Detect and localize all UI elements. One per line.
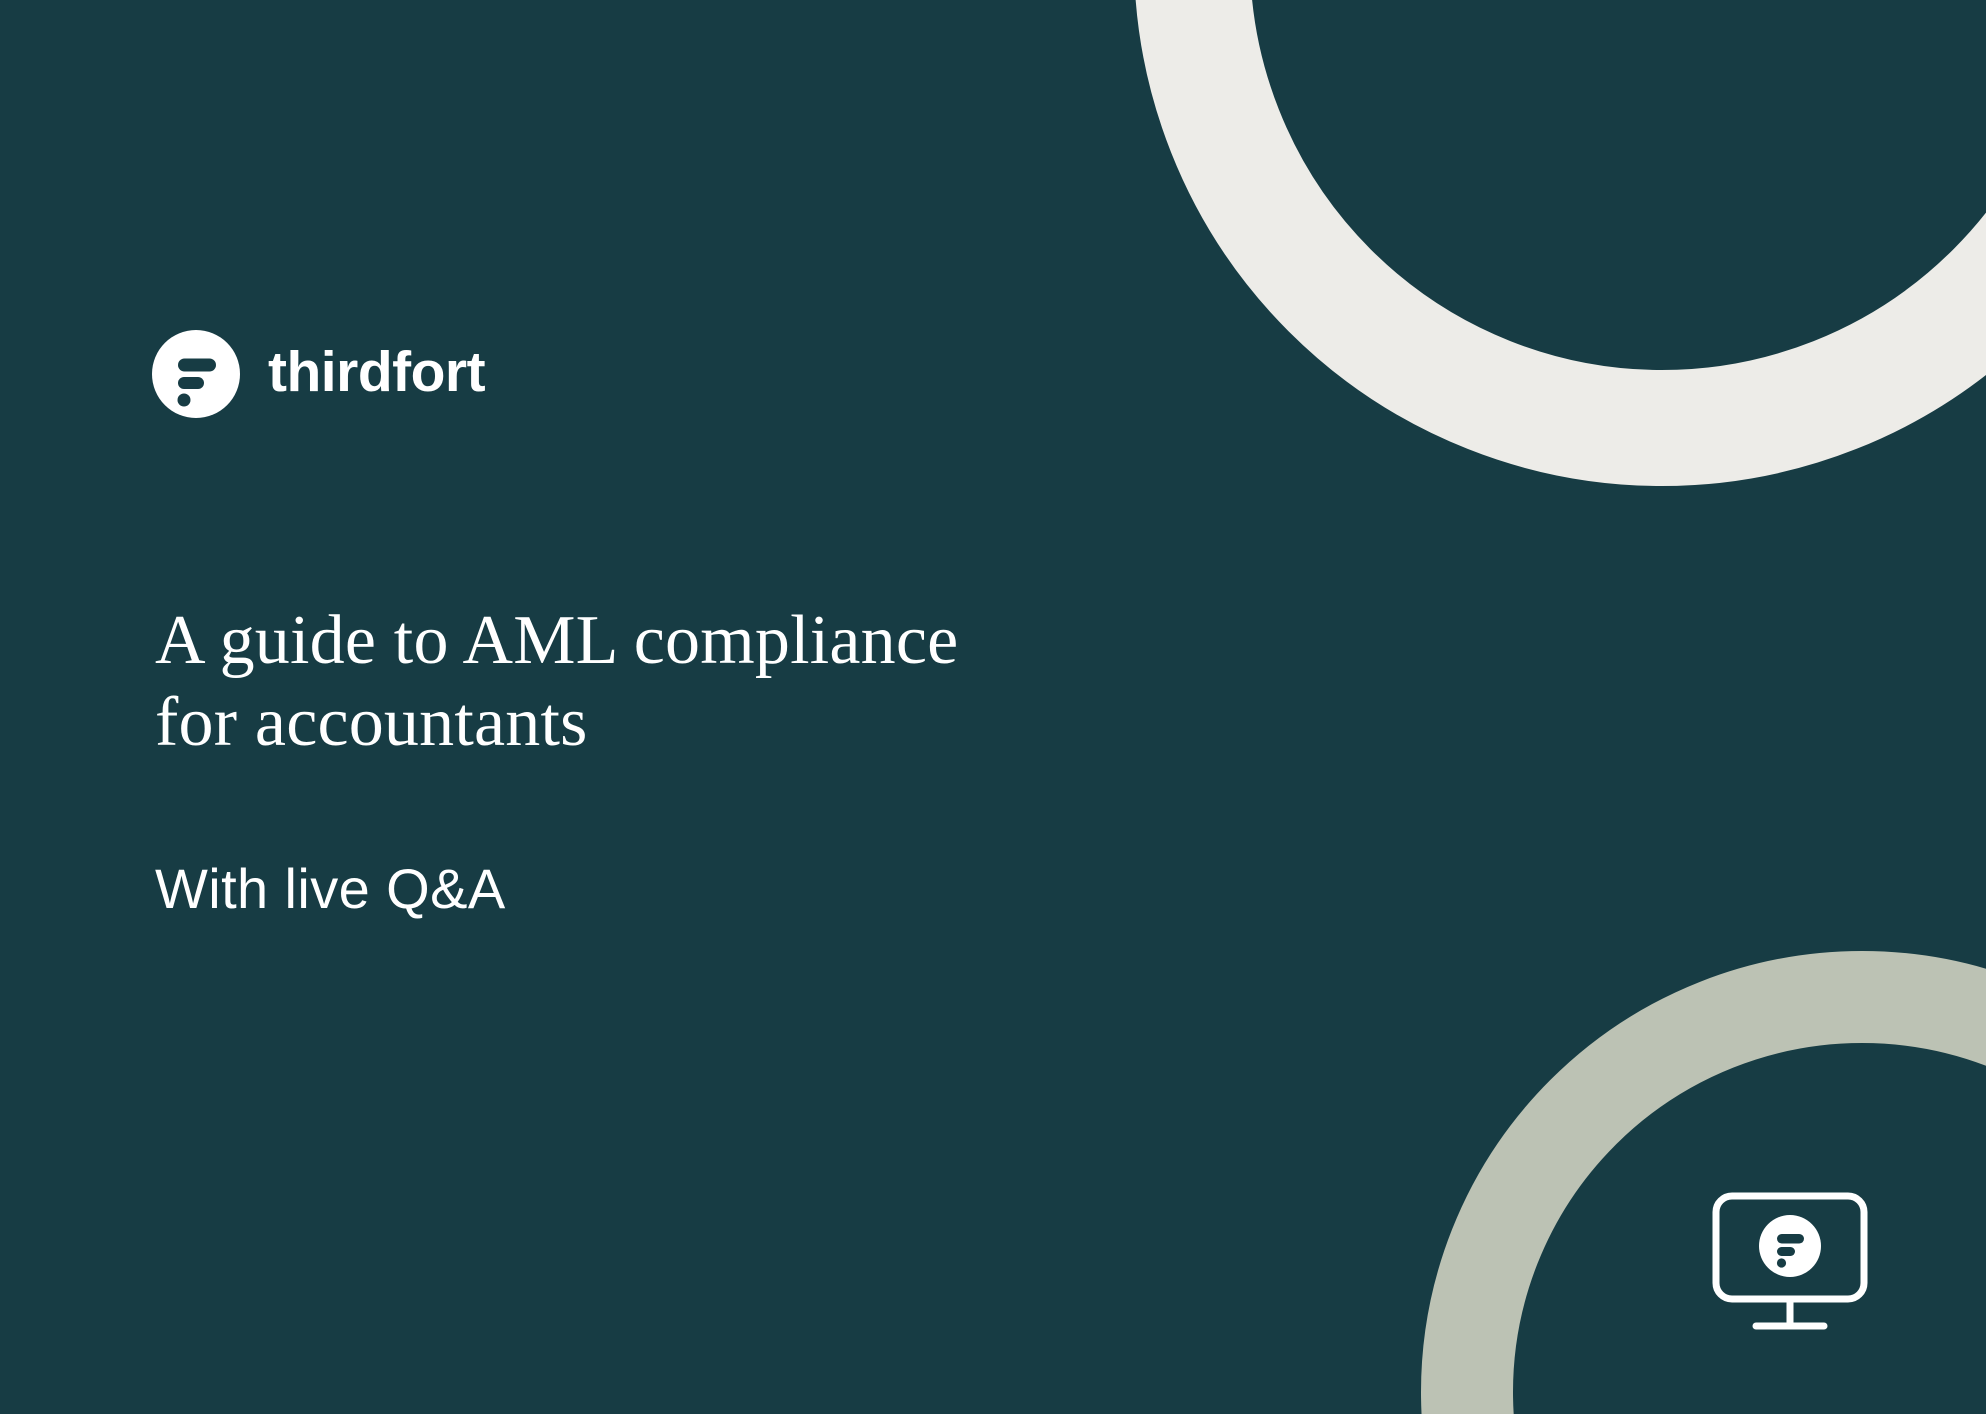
svg-text:thirdfort: thirdfort [268, 343, 486, 404]
brand-wordmark: thirdfort thirdfort [268, 343, 564, 405]
thirdfort-f-mark-icon-inline [1759, 1215, 1821, 1277]
slide-subhead: With live Q&A [155, 858, 506, 920]
brand-logo-lockup: thirdfort thirdfort [152, 330, 564, 418]
thirdfort-f-mark-icon [152, 330, 240, 418]
ring-arc-icon-top-right [1192, 0, 1986, 428]
slide-headline: A guide to AML compliance for accountant… [155, 600, 1155, 764]
slide-canvas: thirdfort thirdfort A guide to AML compl… [0, 0, 1986, 1414]
monitor-screen-icon [1700, 1180, 1880, 1345]
